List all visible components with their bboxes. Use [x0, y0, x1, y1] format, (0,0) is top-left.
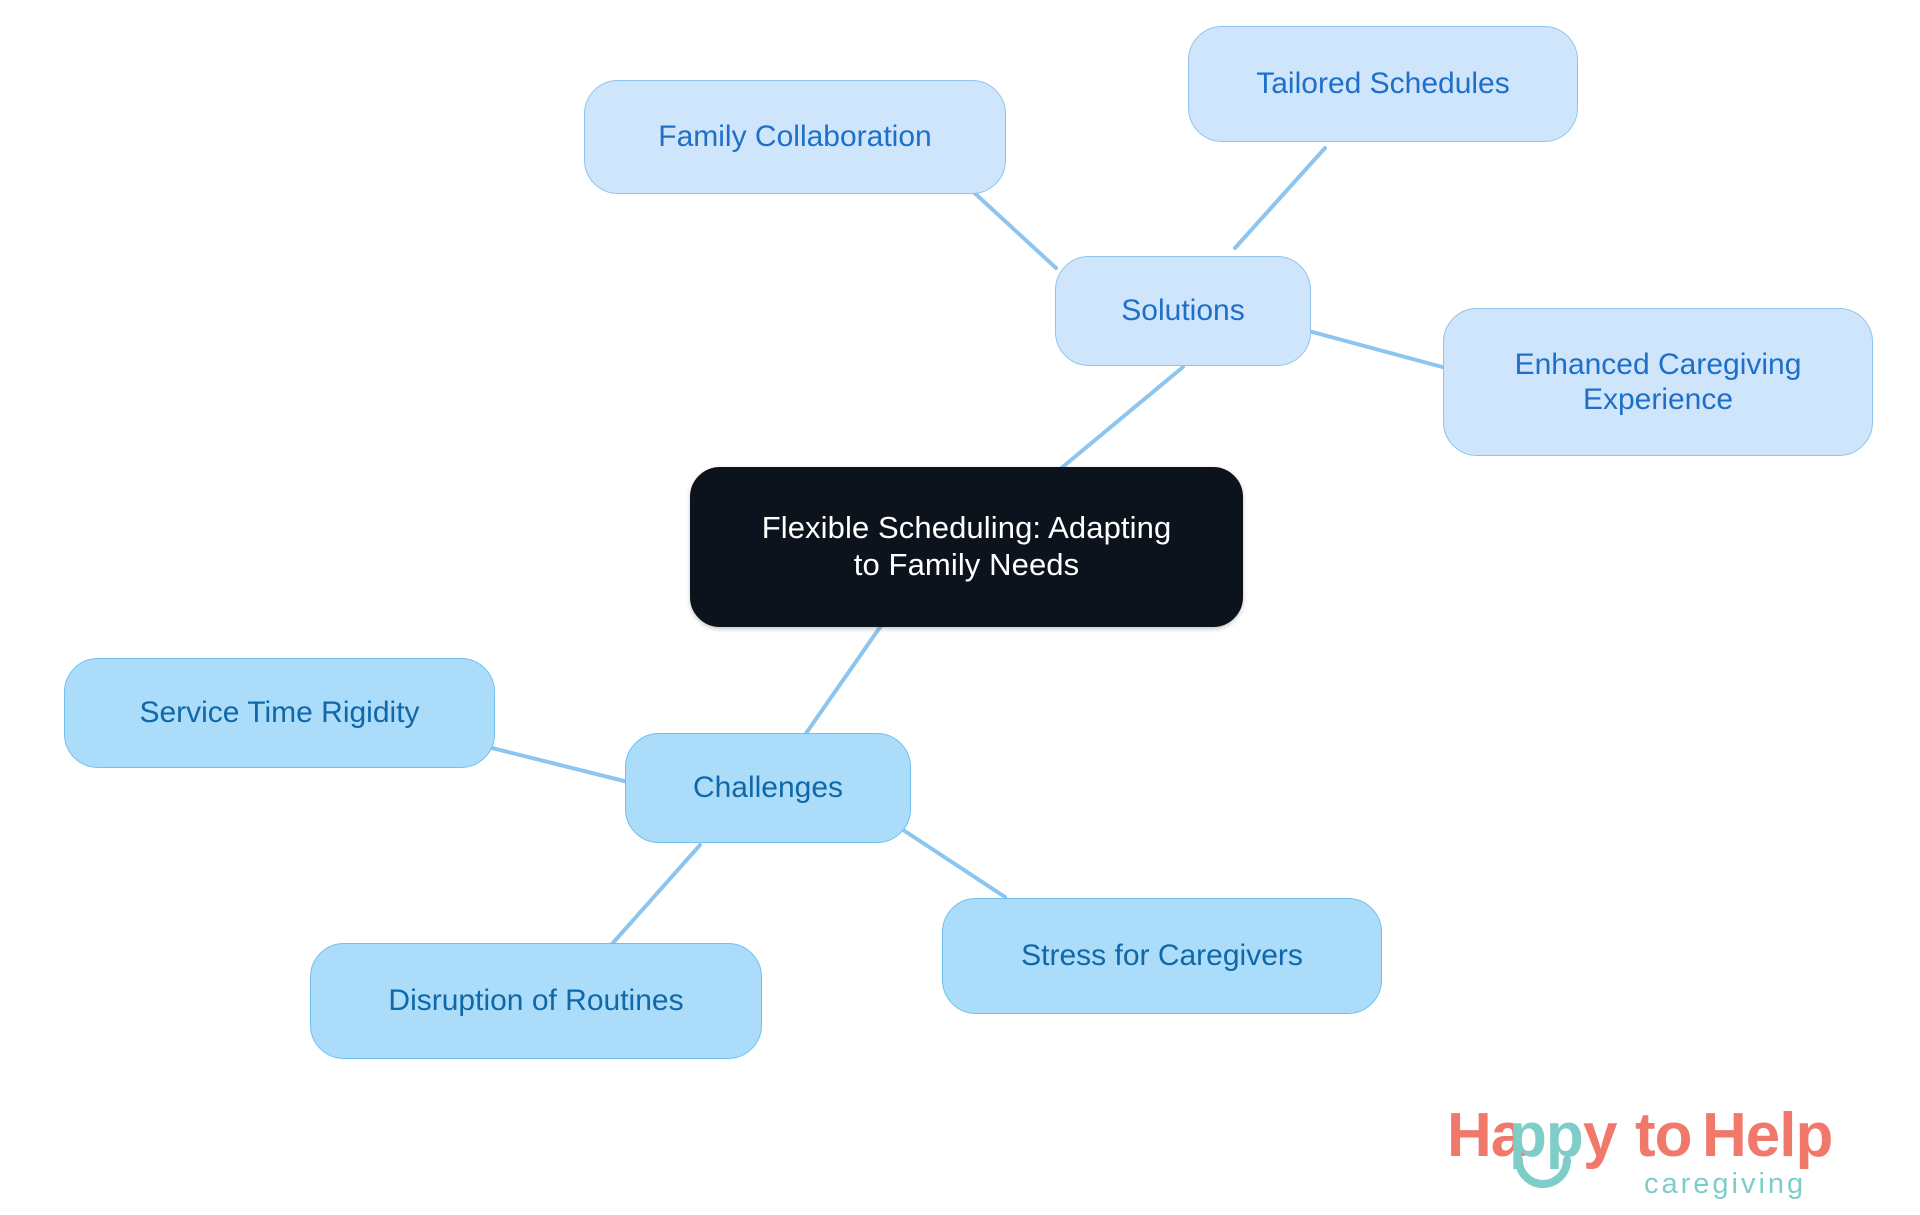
edge-solutions-to-tailored-schedules — [1235, 148, 1325, 248]
happy-to-help-caregiving-logo: Ha pp y to Help caregiving — [1447, 1098, 1867, 1206]
logo-word-to: to — [1635, 1101, 1692, 1170]
leaf-node-service-time-rigidity[interactable]: Service Time Rigidity — [64, 658, 495, 768]
leaf-node-enhanced-caregiving-experience[interactable]: Enhanced Caregiving Experience — [1443, 308, 1873, 456]
logo-word-happy-part-c: y — [1583, 1101, 1618, 1170]
branch-node-challenges[interactable]: Challenges — [625, 733, 911, 843]
branch-node-solutions[interactable]: Solutions — [1055, 256, 1311, 366]
edge-challenges-to-disruption-of-routines — [612, 845, 700, 944]
edge-solutions-to-enhanced-caregiving-experience — [1305, 330, 1446, 368]
edge-challenges-to-stress-for-caregivers — [888, 820, 1005, 897]
edge-root-to-challenges — [800, 620, 885, 742]
logo-word-help: Help — [1702, 1101, 1832, 1170]
leaf-node-stress-for-caregivers[interactable]: Stress for Caregivers — [942, 898, 1382, 1014]
edge-root-to-solutions — [1053, 367, 1183, 475]
logo-tagline: caregiving — [1644, 1168, 1806, 1200]
leaf-node-family-collaboration[interactable]: Family Collaboration — [584, 80, 1006, 194]
leaf-node-tailored-schedules[interactable]: Tailored Schedules — [1188, 26, 1578, 142]
mindmap-canvas: Flexible Scheduling: Adapting to Family … — [0, 0, 1920, 1215]
edge-challenges-to-service-time-rigidity — [492, 748, 628, 782]
root-node[interactable]: Flexible Scheduling: Adapting to Family … — [690, 467, 1243, 627]
leaf-node-disruption-of-routines[interactable]: Disruption of Routines — [310, 943, 762, 1059]
